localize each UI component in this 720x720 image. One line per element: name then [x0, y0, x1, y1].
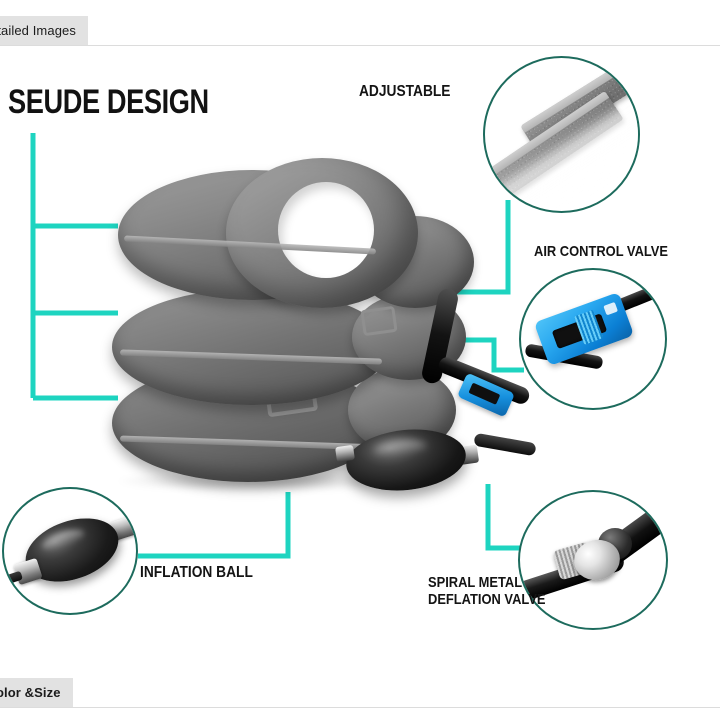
callout-label-inflation-ball: INFLATION BALL: [140, 564, 253, 582]
velcro-strap-photo: [485, 58, 638, 211]
callout-label-air-control-valve: AIR CONTROL VALVE: [534, 243, 668, 260]
pillow-neck-opening: [278, 182, 374, 278]
bulb-highlight: [373, 437, 427, 458]
product-photo: [98, 158, 528, 513]
pillow-layer-middle: [112, 289, 390, 405]
spiral-line-1: SPIRAL METAL: [428, 575, 546, 592]
screenshot-root: etailed Images SEUDE DESIGN: [0, 0, 720, 720]
bulb-highlight: [40, 526, 87, 555]
inflation-ball-photo: [4, 489, 136, 613]
velcro-strap-inset: [483, 56, 640, 213]
air-control-valve-inset: [519, 268, 667, 410]
valve-slot: [468, 383, 500, 405]
callout-label-adjustable: ADJUSTABLE: [359, 83, 450, 101]
air-control-valve-photo: [521, 270, 665, 408]
deflation-valve-inset: [518, 490, 668, 630]
valve-notch: [603, 302, 618, 316]
pillow-u-horn: [226, 158, 418, 308]
inflation-ball-inset: [2, 487, 138, 615]
hose-tail: [473, 433, 536, 457]
pillow-buckle-side: [360, 306, 397, 336]
bottom-tab-strip: olor &Size: [0, 666, 720, 720]
tab-color-and-size[interactable]: olor &Size: [0, 678, 73, 707]
callout-label-spiral-metal-deflation-valve: SPIRAL METAL DEFLATION VALVE: [428, 575, 546, 609]
bottom-divider: [0, 707, 720, 708]
spiral-line-2: DEFLATION VALVE: [428, 592, 546, 609]
bulb-metal-fitting-left: [335, 445, 355, 462]
